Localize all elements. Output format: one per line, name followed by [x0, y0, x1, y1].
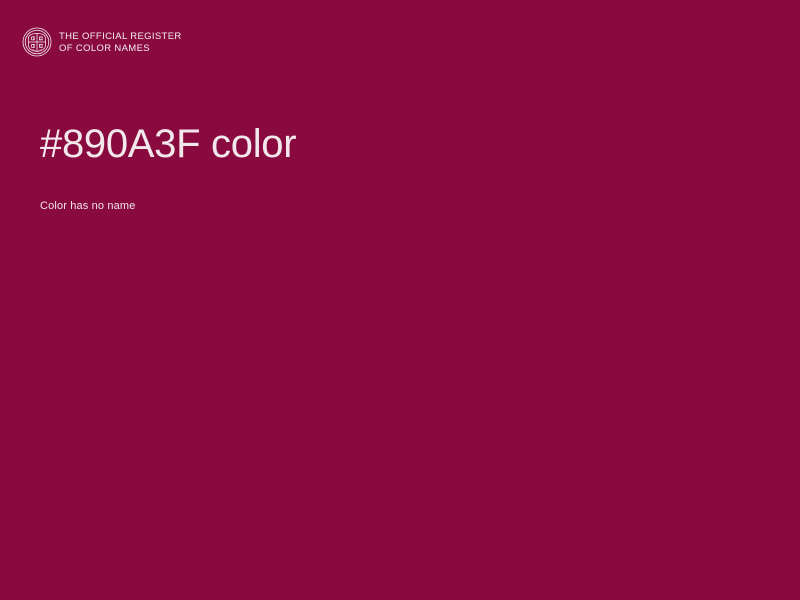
color-name-status: Color has no name [40, 168, 760, 213]
color-info: #890A3F color Color has no name [40, 120, 760, 213]
brand-title: THE OFFICIAL REGISTER OF COLOR NAMES [59, 30, 182, 54]
register-seal-icon [22, 27, 52, 57]
brand-title-line-2: OF COLOR NAMES [59, 43, 182, 55]
brand-title-line-1: THE OFFICIAL REGISTER [59, 31, 182, 43]
page-title: #890A3F color [40, 120, 760, 168]
color-page: THE OFFICIAL REGISTER OF COLOR NAMES #89… [0, 0, 800, 600]
brand-lockup[interactable]: THE OFFICIAL REGISTER OF COLOR NAMES [22, 27, 182, 57]
